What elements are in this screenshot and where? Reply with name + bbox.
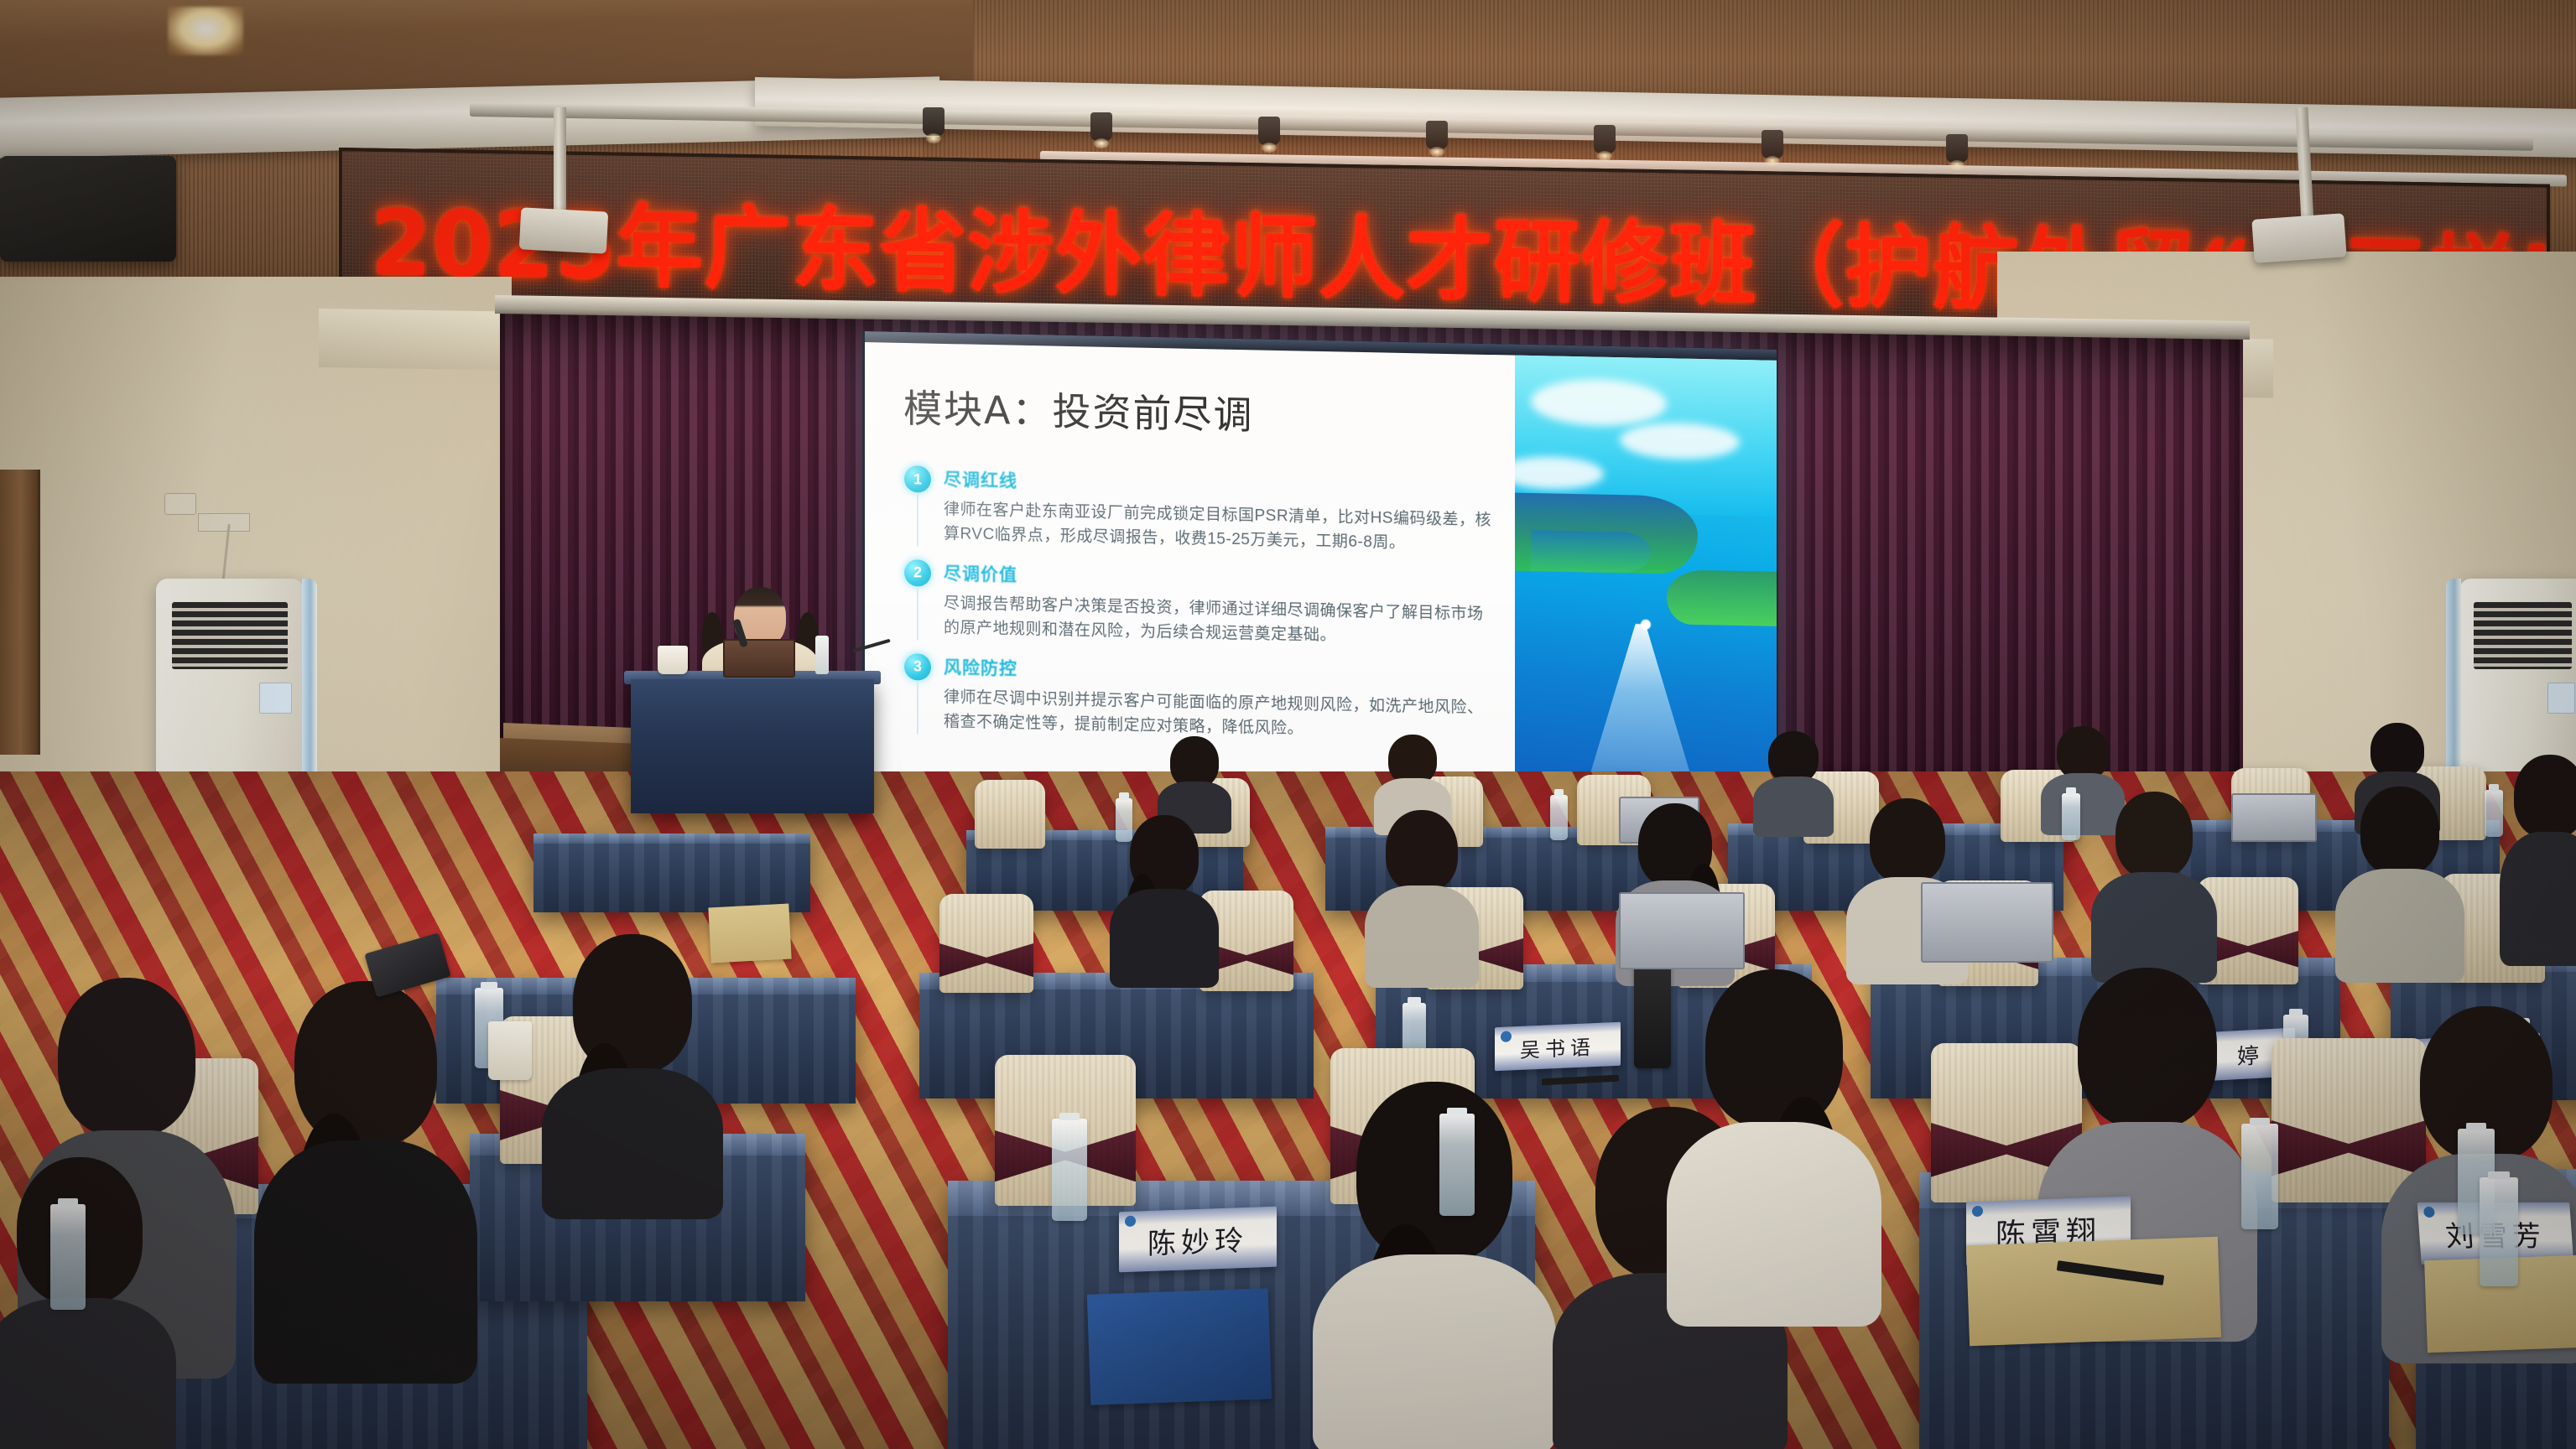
attendee-body xyxy=(2091,872,2217,983)
slide-bullet: 2 尽调价值 尽调报告帮助客户决策是否投资，律师通过详细尽调确保客户了解目标市场… xyxy=(903,559,1496,652)
bullet-heading: 尽调价值 xyxy=(944,560,1496,596)
attendee-head xyxy=(58,978,195,1137)
slide-bullet: 3 风险防控 律师在尽调中识别并提示客户可能面临的原产地规则风险，如洗产地风险、… xyxy=(903,653,1496,745)
bullet-body: 尽调价值 尽调报告帮助客户决策是否投资，律师通过详细尽调确保客户了解目标市场的原… xyxy=(944,560,1496,652)
attendee-body xyxy=(254,1140,477,1384)
attendee-body xyxy=(1110,889,1219,988)
door-left[interactable] xyxy=(0,470,40,755)
track-spotlight xyxy=(1946,134,1968,163)
photo-shoreline xyxy=(1531,530,1652,574)
name-placard: 吴书语 xyxy=(1495,1022,1621,1072)
water-bottle[interactable] xyxy=(1439,1114,1475,1216)
water-bottle[interactable] xyxy=(2241,1124,2278,1229)
chair-bow xyxy=(939,943,1033,977)
attendee xyxy=(265,981,466,1375)
bullet-text: 律师在客户赴东南亚设厂前完成锁定目标国PSR清单，比对HS编码级差，核算RVC临… xyxy=(944,497,1496,558)
attendee-head xyxy=(1870,798,1945,884)
podium xyxy=(631,679,874,813)
bullet-body: 尽调红线 律师在客户赴东南亚设厂前完成锁定目标国PSR清单，比对HS编码级差，核… xyxy=(944,466,1496,558)
water-bottle[interactable] xyxy=(2480,1177,2518,1286)
laptop[interactable] xyxy=(1921,882,2053,963)
bullet-number-badge: 3 xyxy=(904,653,931,681)
attendee-head xyxy=(1768,731,1819,783)
attendee xyxy=(1369,810,1475,983)
wall-junction-box xyxy=(198,513,250,532)
bullet-heading: 尽调红线 xyxy=(944,466,1496,502)
water-bottle[interactable] xyxy=(2485,790,2503,837)
attendee-body xyxy=(1753,776,1834,837)
bullet-marker-column: 3 xyxy=(903,653,932,735)
attendee-head xyxy=(1388,735,1437,785)
attendee xyxy=(2342,787,2458,978)
chair xyxy=(975,780,1045,849)
attendee-head xyxy=(1356,1082,1512,1263)
ac-control-panel[interactable] xyxy=(2547,683,2575,714)
notebook[interactable] xyxy=(1087,1288,1272,1405)
track-spotlight xyxy=(923,107,945,136)
ac-grille xyxy=(2474,602,2572,670)
attendee-head xyxy=(1386,810,1458,892)
attendee-body xyxy=(0,1298,176,1449)
track-spotlight xyxy=(1258,117,1280,145)
track-spotlight xyxy=(1426,121,1448,149)
presentation-slide: 模块A：投资前尽调 1 尽调红线 律师在客户赴东南亚设厂前完成锁定目标国PSR清… xyxy=(865,342,1777,819)
snack-cup[interactable] xyxy=(488,1021,532,1080)
attendee-head xyxy=(1705,969,1843,1129)
presenter-laptop[interactable] xyxy=(723,639,795,678)
attendee-head xyxy=(294,981,437,1147)
ceiling-lamp-glow xyxy=(168,7,243,55)
water-bottle[interactable] xyxy=(1550,795,1568,840)
attendee-head xyxy=(2514,755,2576,839)
table-row xyxy=(533,834,810,912)
water-bottle[interactable] xyxy=(1052,1119,1087,1221)
track-spotlight xyxy=(1762,130,1783,158)
track-spotlight xyxy=(1594,125,1616,153)
attendee xyxy=(1755,731,1832,835)
track-spotlight xyxy=(1090,112,1112,141)
attendee-head xyxy=(2078,968,2217,1129)
slide-photo-lake xyxy=(1515,356,1777,819)
placard-logo-icon xyxy=(1501,1031,1512,1042)
attendee-head xyxy=(2115,792,2193,879)
attendee xyxy=(1114,815,1215,983)
bullet-heading: 风险防控 xyxy=(944,654,1496,690)
attendee xyxy=(2506,755,2576,964)
attendee-body xyxy=(1667,1122,1881,1327)
attendee xyxy=(1678,969,1871,1322)
placard-name: 吴书语 xyxy=(1520,1031,1595,1063)
bullet-connector-line xyxy=(917,682,919,734)
chair xyxy=(939,894,1033,993)
attendee-body xyxy=(1365,885,1479,988)
placard-logo-icon xyxy=(1125,1216,1136,1227)
slide-bullet: 1 尽调红线 律师在客户赴东南亚设厂前完成锁定目标国PSR清单，比对HS编码级差… xyxy=(903,465,1496,558)
attendee-head xyxy=(1170,736,1219,788)
attendee-head xyxy=(2360,787,2439,875)
laptop[interactable] xyxy=(2231,793,2317,842)
attendee xyxy=(1325,1082,1543,1449)
placard-logo-icon xyxy=(1972,1206,1983,1217)
projector xyxy=(519,207,608,253)
wall-outlet xyxy=(164,493,196,515)
name-placard: 陈妙玲 xyxy=(1119,1207,1277,1273)
notepad[interactable] xyxy=(708,904,791,963)
ac-grille xyxy=(172,602,287,670)
attendee-head xyxy=(2057,726,2109,780)
bullet-marker-column: 1 xyxy=(903,465,932,547)
water-bottle[interactable] xyxy=(2062,793,2080,840)
placard-logo-icon xyxy=(2423,1207,2435,1218)
laptop[interactable] xyxy=(1619,892,1745,969)
bullet-connector-line xyxy=(917,588,919,640)
attendee-body xyxy=(2335,869,2464,983)
ac-control-panel[interactable] xyxy=(259,683,292,714)
placard-name: 陈妙玲 xyxy=(1147,1217,1248,1261)
photo-boat xyxy=(1641,619,1651,629)
bullet-number-badge: 1 xyxy=(904,465,931,493)
conference-hall-photo: 2025年广东省涉外律师人才研修班（护航外贸“新三样”出海法律事务专题）第二期 … xyxy=(0,0,2576,1449)
bullet-number-badge: 2 xyxy=(904,559,931,587)
bullet-connector-line xyxy=(917,494,919,546)
photo-island xyxy=(1667,569,1777,627)
attendee-body xyxy=(1313,1254,1556,1449)
attendee xyxy=(2097,792,2211,978)
projector-mount-arm xyxy=(554,107,566,216)
projector xyxy=(2251,213,2346,263)
attendee xyxy=(550,934,715,1211)
travel-tumbler[interactable] xyxy=(1634,961,1671,1068)
attendee-body xyxy=(542,1068,723,1219)
attendee-body xyxy=(2500,832,2576,966)
slide-title: 模块A：投资前尽调 xyxy=(903,378,1496,445)
bullet-text: 尽调报告帮助客户决策是否投资，律师通过详细尽调确保客户了解目标市场的原产地规则和… xyxy=(944,591,1496,652)
water-bottle[interactable] xyxy=(815,636,829,674)
notepad[interactable] xyxy=(1966,1237,2221,1346)
attendee-head xyxy=(2370,723,2424,778)
bullet-body: 风险防控 律师在尽调中识别并提示客户可能面临的原产地规则风险，如洗产地风险、稽查… xyxy=(944,654,1496,745)
bullet-marker-column: 2 xyxy=(903,559,932,641)
wall-speaker xyxy=(0,156,176,262)
water-bottle[interactable] xyxy=(50,1204,86,1310)
projection-screen: 模块A：投资前尽调 1 尽调红线 律师在客户赴东南亚设厂前完成锁定目标国PSR清… xyxy=(862,331,1777,819)
water-glass[interactable] xyxy=(658,646,688,674)
